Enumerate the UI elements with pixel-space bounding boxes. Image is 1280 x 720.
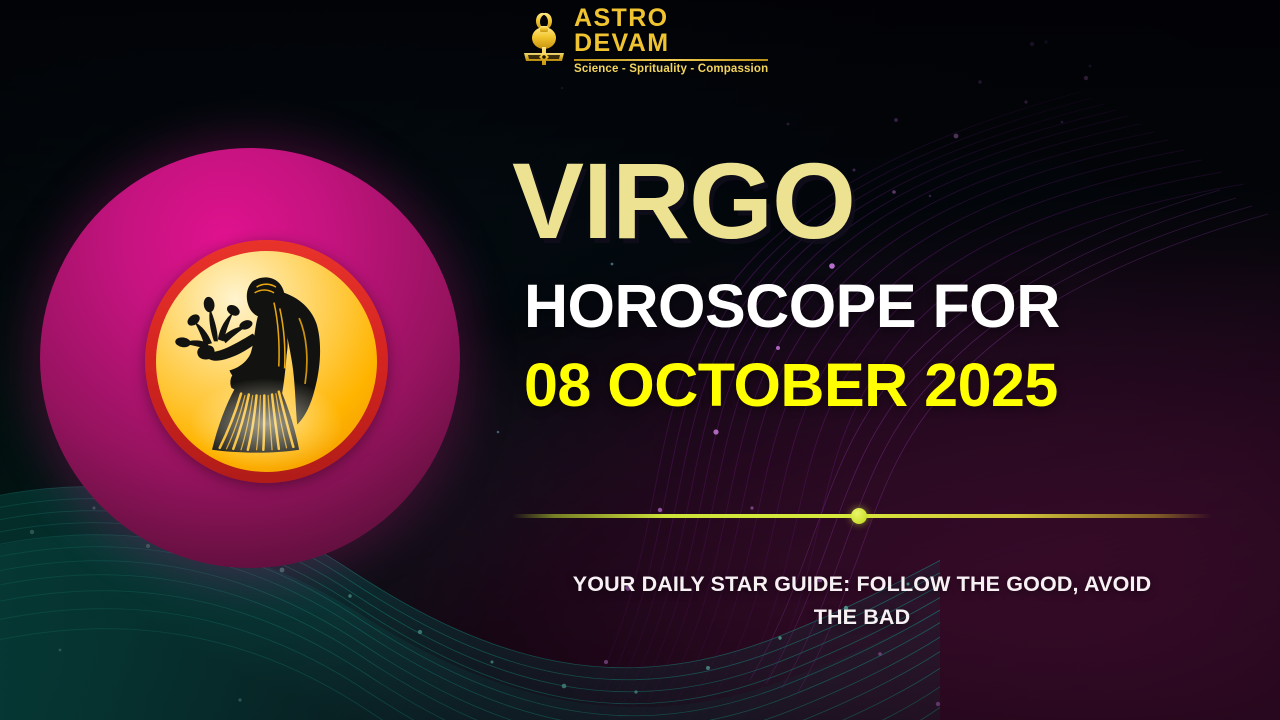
virgo-maiden-icon bbox=[169, 260, 363, 463]
brand-name: ASTRO DEVAM bbox=[574, 6, 768, 56]
horoscope-banner: ASTRO DEVAM Science - Sprituality - Comp… bbox=[0, 0, 1280, 720]
brand-logo-text: ASTRO DEVAM Science - Sprituality - Comp… bbox=[574, 6, 768, 76]
zodiac-sign-title: VIRGO bbox=[512, 148, 1212, 254]
virgo-emblem bbox=[40, 148, 460, 568]
section-divider bbox=[512, 508, 1212, 524]
emblem-red-ring bbox=[145, 240, 388, 483]
horoscope-for-label: HOROSCOPE FOR bbox=[524, 276, 1212, 337]
emblem-gold-disc bbox=[156, 251, 377, 472]
brand-logo[interactable]: ASTRO DEVAM Science - Sprituality - Comp… bbox=[522, 8, 768, 74]
daily-guide-tagline: YOUR DAILY STAR GUIDE: FOLLOW THE GOOD, … bbox=[562, 568, 1162, 633]
brand-divider-rule bbox=[574, 59, 768, 61]
brand-tagline: Science - Sprituality - Compassion bbox=[574, 64, 768, 76]
horoscope-date: 08 OCTOBER 2025 bbox=[524, 355, 1212, 416]
kalash-crescent-icon bbox=[522, 11, 566, 71]
divider-dot-icon bbox=[851, 508, 867, 524]
headline-block: VIRGO HOROSCOPE FOR 08 OCTOBER 2025 bbox=[512, 148, 1212, 416]
